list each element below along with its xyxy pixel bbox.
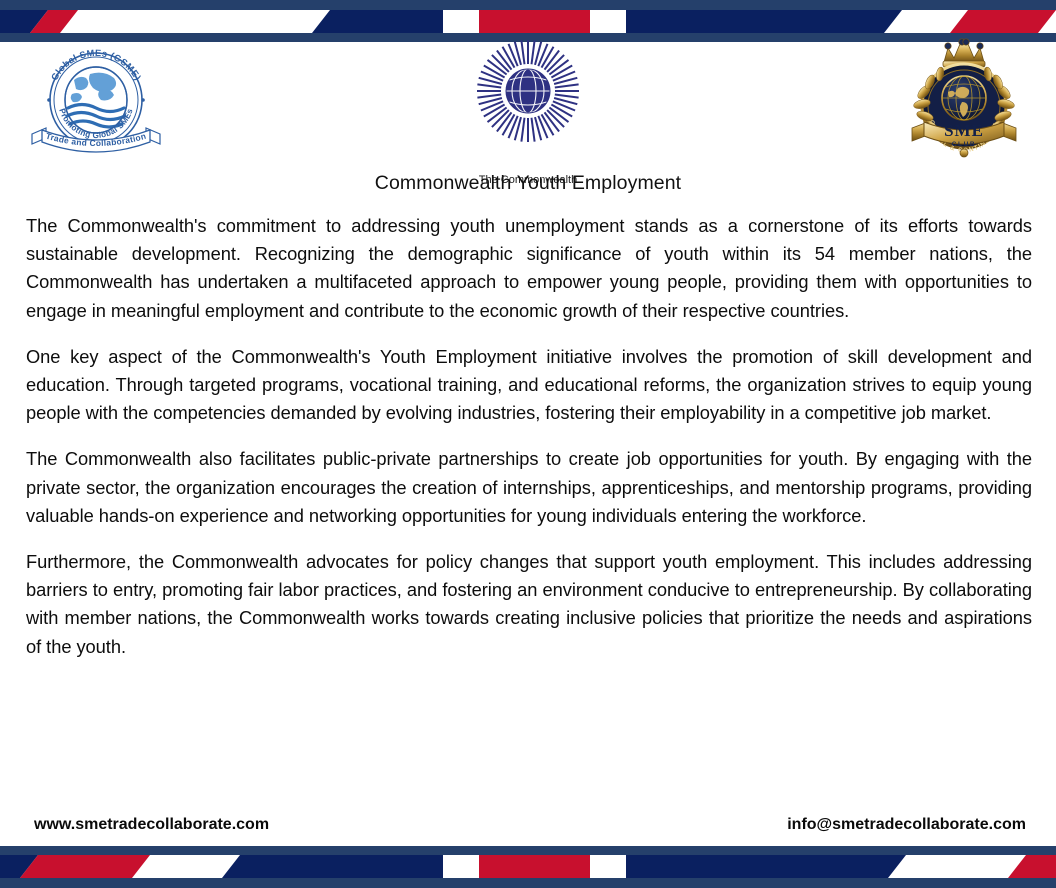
page-title: Commonwealth Youth Employment — [0, 172, 1056, 195]
document-body: The Commonwealth's commitment to address… — [26, 212, 1032, 661]
svg-text:SME: SME — [944, 121, 984, 140]
flag-stripe-pattern-icon — [0, 855, 1056, 878]
bottom-decorative-banner — [0, 846, 1056, 888]
body-paragraph-2: One key aspect of the Commonwealth's You… — [26, 343, 1032, 428]
body-paragraph-3: The Commonwealth also facilitates public… — [26, 445, 1032, 530]
logo-row: Global SMEs (GSME) Promoting Global SMEs… — [0, 36, 1056, 166]
banner-frame-strip-lower — [0, 878, 1056, 888]
footer-website[interactable]: www.smetradecollaborate.com — [34, 816, 269, 834]
banner-stripe-band-bottom — [0, 855, 1056, 878]
banner-frame-strip-upper — [0, 846, 1056, 855]
body-paragraph-4: Furthermore, the Commonwealth advocates … — [26, 548, 1032, 661]
flag-stripe-pattern-icon — [0, 10, 1056, 33]
body-paragraph-1: The Commonwealth's commitment to address… — [26, 212, 1032, 325]
document-page: Global SMEs (GSME) Promoting Global SMEs… — [0, 0, 1056, 888]
banner-stripe-band-top — [0, 10, 1056, 33]
svg-text:CLUB: CLUB — [952, 141, 976, 148]
gsme-seal-logo: Global SMEs (GSME) Promoting Global SMEs… — [28, 38, 164, 160]
commonwealth-globe-logo — [460, 36, 596, 164]
banner-frame-strip-upper — [0, 0, 1056, 10]
sme-club-crest-logo: GLOBAL & CONTINENTAL SME CLUB — [896, 32, 1032, 168]
footer-email[interactable]: info@smetradecollaborate.com — [787, 816, 1026, 834]
footer: www.smetradecollaborate.com info@smetrad… — [0, 816, 1056, 842]
